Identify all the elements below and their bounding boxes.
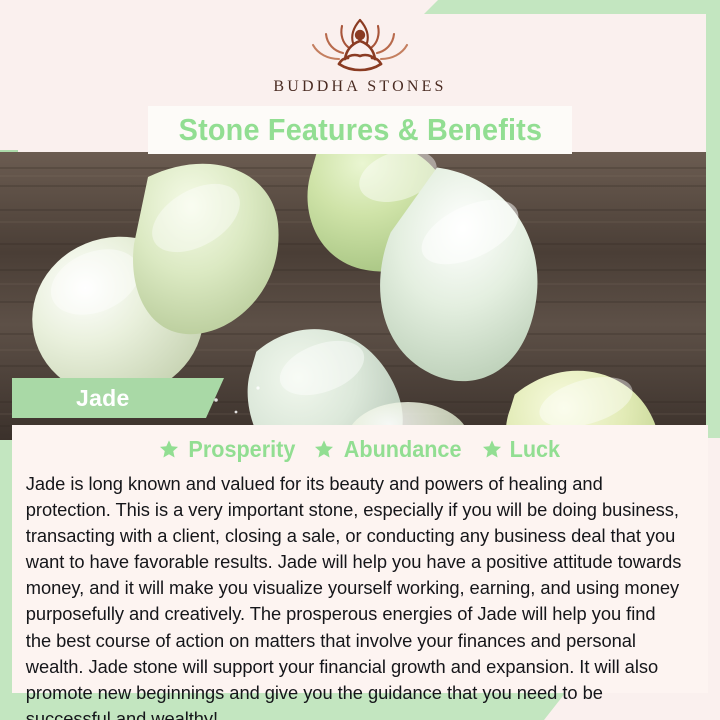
content-card: Prosperity Abundance Luck Jade is long k…	[12, 425, 708, 693]
poster-root: BUDDHA STONES	[0, 0, 720, 720]
decorative-top-right-band	[424, 0, 720, 14]
benefit-label: Prosperity	[188, 436, 295, 463]
star-icon	[314, 439, 334, 459]
page-title: Stone Features & Benefits	[178, 112, 542, 148]
benefit-item: Prosperity	[159, 436, 299, 463]
page-title-bar: Stone Features & Benefits	[148, 106, 572, 154]
benefit-item: Abundance	[314, 436, 465, 463]
star-icon	[482, 439, 502, 459]
star-icon	[159, 439, 179, 459]
brand-name: BUDDHA STONES	[273, 78, 446, 96]
stone-name-banner: Jade	[12, 378, 224, 418]
benefit-label: Abundance	[344, 436, 462, 463]
brand-header: BUDDHA STONES	[0, 14, 720, 106]
benefit-item: Luck	[482, 436, 562, 463]
benefit-label: Luck	[509, 436, 559, 463]
benefits-row: Prosperity Abundance Luck	[12, 425, 708, 467]
stone-name-label: Jade	[12, 385, 130, 412]
stone-description: Jade is long known and valued for its be…	[12, 467, 698, 720]
decorative-left-strip	[0, 425, 12, 693]
lotus-meditation-figure-icon	[301, 14, 419, 76]
